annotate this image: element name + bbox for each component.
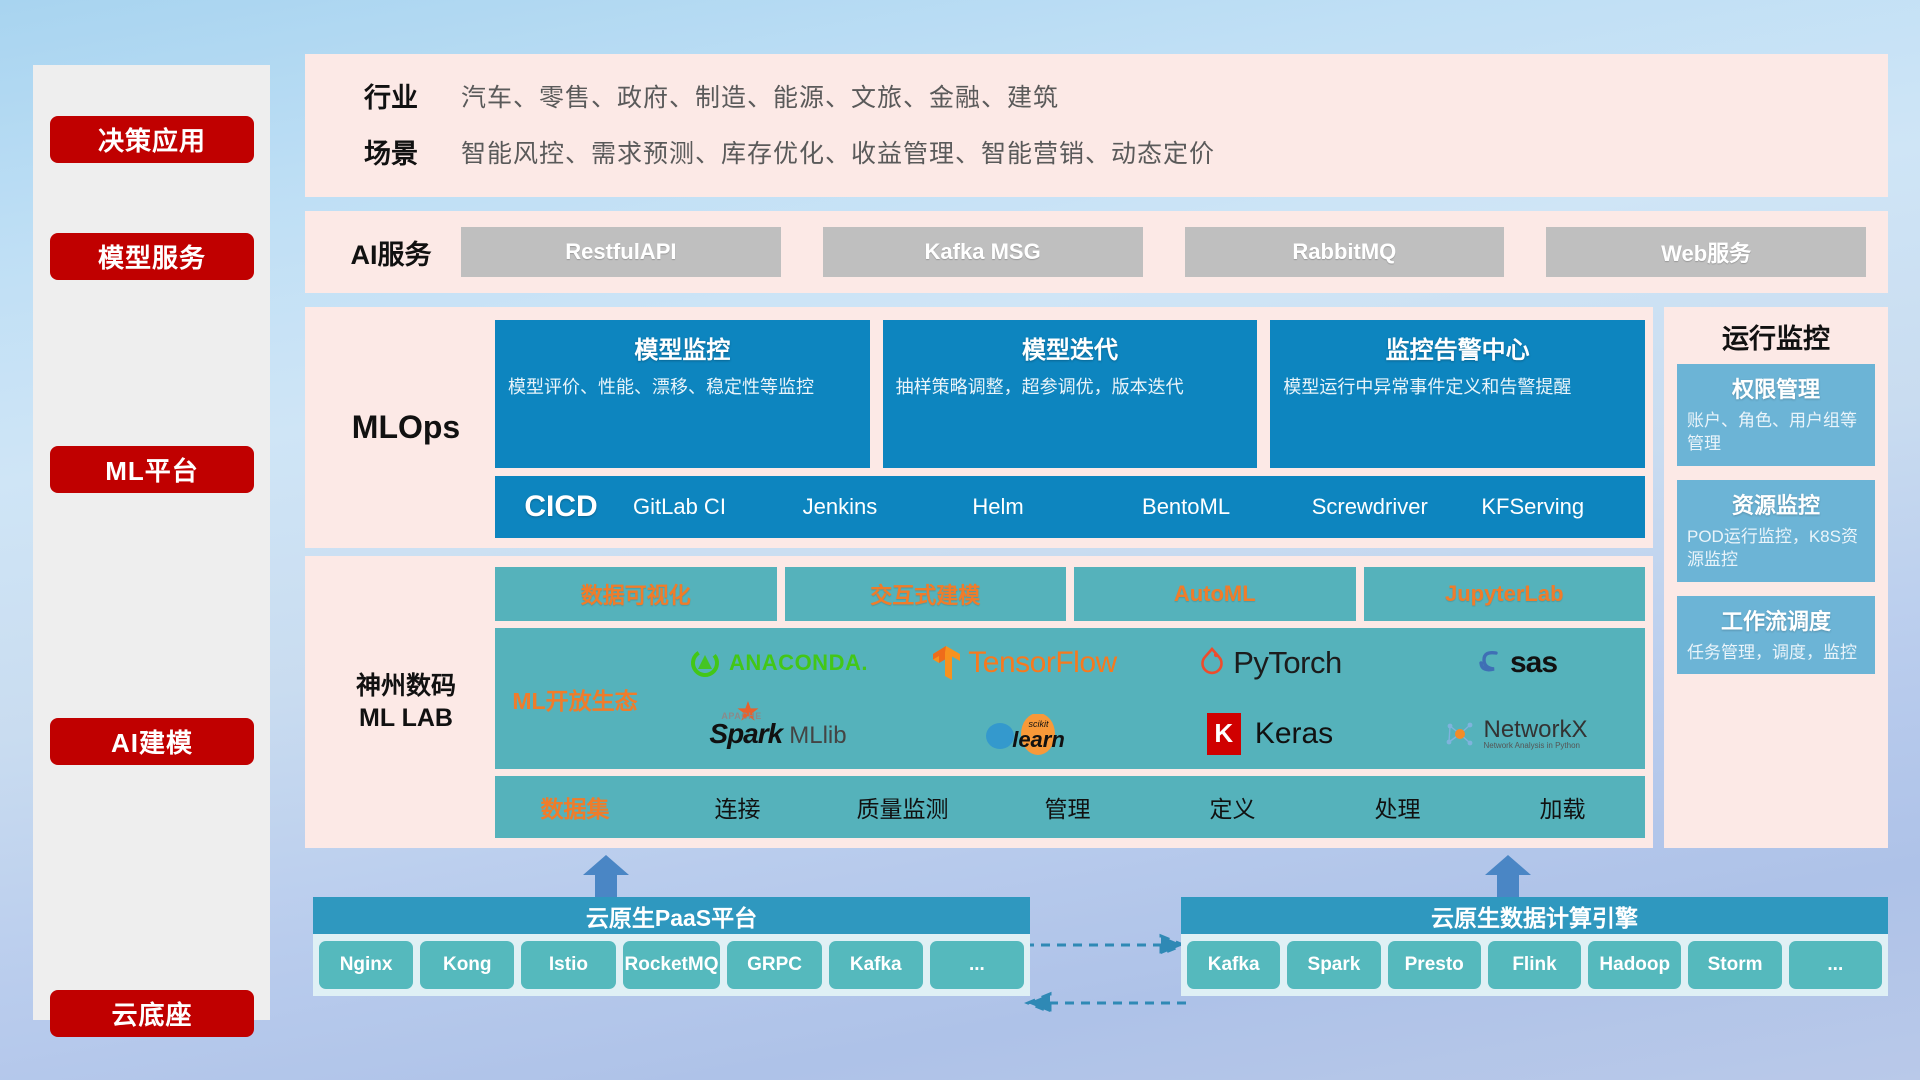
up-arrow-icon-paas: [583, 855, 629, 899]
industry-scenario-band: 行业 汽车、零售、政府、制造、能源、文旅、金融、建筑 场景 智能风控、需求预测、…: [305, 54, 1888, 197]
service-box-rabbitmq[interactable]: RabbitMQ: [1185, 227, 1505, 277]
dataset-item-quality-monitor[interactable]: 质量监测: [820, 790, 985, 824]
industry-key: 行业: [321, 76, 461, 115]
scikit-learn-logo: scikit learn: [983, 714, 1065, 754]
rail-chip-label: AI建模: [111, 723, 193, 760]
tool-box-jupyterlab[interactable]: JupyterLab: [1364, 567, 1646, 621]
cloud-chip-grpc[interactable]: GRPC: [727, 941, 821, 989]
dataset-item-load[interactable]: 加载: [1480, 790, 1645, 824]
dataset-row: 数据集 连接 质量监测 管理 定义 处理 加载: [495, 776, 1645, 838]
ai-service-box-list: RestfulAPI Kafka MSG RabbitMQ Web服务: [461, 227, 1888, 277]
sas-logo: sas: [1475, 646, 1557, 680]
mlops-band: MLOps 模型监控 模型评价、性能、漂移、稳定性等监控 模型迭代 抽样策略调整…: [305, 307, 1653, 548]
card-title: 工作流调度: [1687, 604, 1865, 636]
spark-mllib-logo: APACHE Spark MLlib: [709, 718, 846, 750]
cloud-native-data-engine-group: 云原生数据计算引擎 Kafka Spark Presto Flink Hadoo…: [1181, 897, 1888, 996]
keras-logo: K Keras: [1207, 713, 1333, 755]
monitor-card-workflow-scheduling[interactable]: 工作流调度 任务管理，调度，监控: [1677, 596, 1875, 674]
tensorflow-mark-icon: [931, 645, 961, 681]
pytorch-wordmark: PyTorch: [1233, 645, 1341, 681]
data-chip-presto[interactable]: Presto: [1388, 941, 1481, 989]
card-desc: POD运行监控，K8S资源监控: [1687, 525, 1865, 572]
cloud-paas-title: 云原生PaaS平台: [313, 897, 1030, 934]
mlops-card-model-monitoring[interactable]: 模型监控 模型评价、性能、漂移、稳定性等监控: [495, 320, 870, 468]
rail-chip-ai-modeling[interactable]: AI建模: [50, 718, 254, 765]
rail-chip-label: 模型服务: [98, 238, 206, 275]
cicd-item-kfserving[interactable]: KFServing: [1475, 494, 1645, 519]
ecosystem-logo-grid: ANACONDA. TensorFlow PyTorch: [655, 628, 1645, 769]
dataset-item-process[interactable]: 处理: [1315, 790, 1480, 824]
mlops-card-list: 模型监控 模型评价、性能、漂移、稳定性等监控 模型迭代 抽样策略调整，超参调优，…: [495, 320, 1645, 468]
data-chip-flink[interactable]: Flink: [1488, 941, 1581, 989]
ml-lab-label-line1: 神州数码: [356, 670, 456, 703]
ml-lab-label-line2: ML LAB: [359, 702, 453, 735]
keras-mark-icon: K: [1207, 713, 1241, 755]
card-desc: 模型运行中异常事件定义和告警提醒: [1283, 375, 1632, 401]
modeling-tool-list: 数据可视化 交互式建模 AutoML JupyterLab: [495, 567, 1645, 621]
cicd-item-helm[interactable]: Helm: [966, 494, 1136, 519]
up-arrow-icon-data-engine: [1485, 855, 1531, 899]
ml-lab-label: 神州数码 ML LAB: [321, 556, 491, 848]
mlops-label: MLOps: [321, 307, 491, 548]
tool-box-data-visualization[interactable]: 数据可视化: [495, 567, 777, 621]
pytorch-flame-icon: [1198, 647, 1226, 679]
networkx-graph-icon: [1444, 718, 1476, 750]
dataset-item-define[interactable]: 定义: [1150, 790, 1315, 824]
cloud-chip-kong[interactable]: Kong: [420, 941, 514, 989]
ml-open-ecosystem-label: ML开放生态: [495, 682, 655, 716]
networkx-logo: NetworkX Network Analysis in Python: [1444, 718, 1587, 750]
cloud-chip-kafka[interactable]: Kafka: [829, 941, 923, 989]
monitor-card-permission-management[interactable]: 权限管理 账户、角色、用户组等管理: [1677, 364, 1875, 466]
cicd-item-bentoml[interactable]: BentoML: [1136, 494, 1306, 519]
scenario-key: 场景: [321, 132, 461, 171]
industry-row: 行业 汽车、零售、政府、制造、能源、文旅、金融、建筑: [321, 76, 1059, 115]
cloud-native-paas-group: 云原生PaaS平台 Nginx Kong Istio RocketMQ GRPC…: [313, 897, 1030, 996]
card-title: 模型监控: [508, 330, 857, 365]
ai-service-label: AI服务: [321, 233, 461, 272]
tool-box-automl[interactable]: AutoML: [1074, 567, 1356, 621]
sas-wordmark: sas: [1510, 646, 1557, 680]
keras-wordmark: Keras: [1255, 717, 1333, 751]
mlops-card-alert-center[interactable]: 监控告警中心 模型运行中异常事件定义和告警提醒: [1270, 320, 1645, 468]
rail-chip-model-service[interactable]: 模型服务: [50, 233, 254, 280]
cicd-item-list: GitLab CI Jenkins Helm BentoML Screwdriv…: [627, 494, 1645, 519]
ml-open-ecosystem-row: ML开放生态 ANACONDA. TensorFlow: [495, 628, 1645, 769]
cicd-title: CICD: [495, 490, 627, 524]
data-chip-more[interactable]: ...: [1789, 941, 1882, 989]
layer-rail: 决策应用 模型服务 ML平台 AI建模 云底座: [33, 65, 270, 1020]
card-title: 资源监控: [1687, 488, 1865, 520]
anaconda-wordmark: ANACONDA.: [729, 650, 868, 676]
spark-apache-tag: APACHE: [721, 711, 761, 721]
cloud-chip-istio[interactable]: Istio: [521, 941, 615, 989]
service-box-restfulapi[interactable]: RestfulAPI: [461, 227, 781, 277]
scenario-value: 智能风控、需求预测、库存优化、收益管理、智能营销、动态定价: [461, 134, 1215, 170]
cloud-data-engine-title: 云原生数据计算引擎: [1181, 897, 1888, 934]
service-box-web-service[interactable]: Web服务: [1546, 227, 1866, 277]
sas-mark-icon: [1475, 647, 1503, 679]
cicd-bar: CICD GitLab CI Jenkins Helm BentoML Scre…: [495, 476, 1645, 538]
cicd-item-gitlab-ci[interactable]: GitLab CI: [627, 494, 797, 519]
card-desc: 模型评价、性能、漂移、稳定性等监控: [508, 375, 857, 401]
tensorflow-logo: TensorFlow: [931, 645, 1116, 681]
runtime-monitoring-panel: 运行监控 权限管理 账户、角色、用户组等管理 资源监控 POD运行监控，K8S资…: [1664, 307, 1888, 848]
scenario-row: 场景 智能风控、需求预测、库存优化、收益管理、智能营销、动态定价: [321, 132, 1215, 171]
monitor-card-resource-monitoring[interactable]: 资源监控 POD运行监控，K8S资源监控: [1677, 480, 1875, 582]
networkx-tagline: Network Analysis in Python: [1483, 742, 1587, 750]
data-chip-kafka[interactable]: Kafka: [1187, 941, 1280, 989]
cloud-chip-rocketmq[interactable]: RocketMQ: [623, 941, 721, 989]
rail-chip-label: 云底座: [111, 995, 192, 1032]
bidirectional-connector-icons: [1023, 930, 1188, 1030]
ai-service-band: AI服务 RestfulAPI Kafka MSG RabbitMQ Web服务: [305, 211, 1888, 293]
dataset-item-connect[interactable]: 连接: [655, 790, 820, 824]
tensorflow-wordmark: TensorFlow: [968, 646, 1116, 680]
service-box-kafka-msg[interactable]: Kafka MSG: [823, 227, 1143, 277]
card-title: 权限管理: [1687, 372, 1865, 404]
dataset-item-list: 连接 质量监测 管理 定义 处理 加载: [655, 790, 1645, 824]
cloud-chip-more[interactable]: ...: [930, 941, 1024, 989]
cicd-item-screwdriver[interactable]: Screwdriver: [1306, 494, 1476, 519]
anaconda-mark-icon: [688, 646, 722, 680]
rail-chip-decision-apps[interactable]: 决策应用: [50, 116, 254, 163]
card-title: 模型迭代: [896, 330, 1245, 365]
tool-box-interactive-modeling[interactable]: 交互式建模: [785, 567, 1067, 621]
data-chip-hadoop[interactable]: Hadoop: [1588, 941, 1681, 989]
card-desc: 账户、角色、用户组等管理: [1687, 409, 1865, 456]
rail-chip-label: ML平台: [105, 451, 199, 488]
diagram-main-column: 行业 汽车、零售、政府、制造、能源、文旅、金融、建筑 场景 智能风控、需求预测、…: [305, 0, 1888, 1080]
ai-modeling-band: 神州数码 ML LAB 数据可视化 交互式建模 AutoML JupyterLa…: [305, 556, 1653, 848]
industry-value: 汽车、零售、政府、制造、能源、文旅、金融、建筑: [461, 78, 1059, 114]
card-desc: 任务管理，调度，监控: [1687, 641, 1865, 664]
rail-chip-cloud-foundation[interactable]: 云底座: [50, 990, 254, 1037]
mlops-card-model-iteration[interactable]: 模型迭代 抽样策略调整，超参调优，版本迭代: [883, 320, 1258, 468]
card-title: 监控告警中心: [1283, 330, 1632, 365]
keras-k-glyph: K: [1214, 718, 1233, 749]
runtime-monitoring-title: 运行监控: [1664, 307, 1888, 364]
anaconda-logo: ANACONDA.: [688, 646, 868, 680]
dataset-label: 数据集: [495, 790, 655, 824]
data-chip-spark[interactable]: Spark: [1287, 941, 1380, 989]
cloud-data-engine-chip-list: Kafka Spark Presto Flink Hadoop Storm ..…: [1181, 934, 1888, 996]
data-chip-storm[interactable]: Storm: [1688, 941, 1781, 989]
card-desc: 抽样策略调整，超参调优，版本迭代: [896, 375, 1245, 401]
mllib-wordmark: MLlib: [789, 722, 846, 750]
cloud-chip-nginx[interactable]: Nginx: [319, 941, 413, 989]
networkx-wordmark: NetworkX: [1483, 718, 1587, 742]
rail-chip-label: 决策应用: [98, 121, 206, 158]
dataset-item-manage[interactable]: 管理: [985, 790, 1150, 824]
rail-chip-ml-platform[interactable]: ML平台: [50, 446, 254, 493]
pytorch-logo: PyTorch: [1198, 645, 1341, 681]
cloud-paas-chip-list: Nginx Kong Istio RocketMQ GRPC Kafka ...: [313, 934, 1030, 996]
cicd-item-jenkins[interactable]: Jenkins: [797, 494, 967, 519]
learn-wordmark: learn: [1012, 729, 1065, 751]
